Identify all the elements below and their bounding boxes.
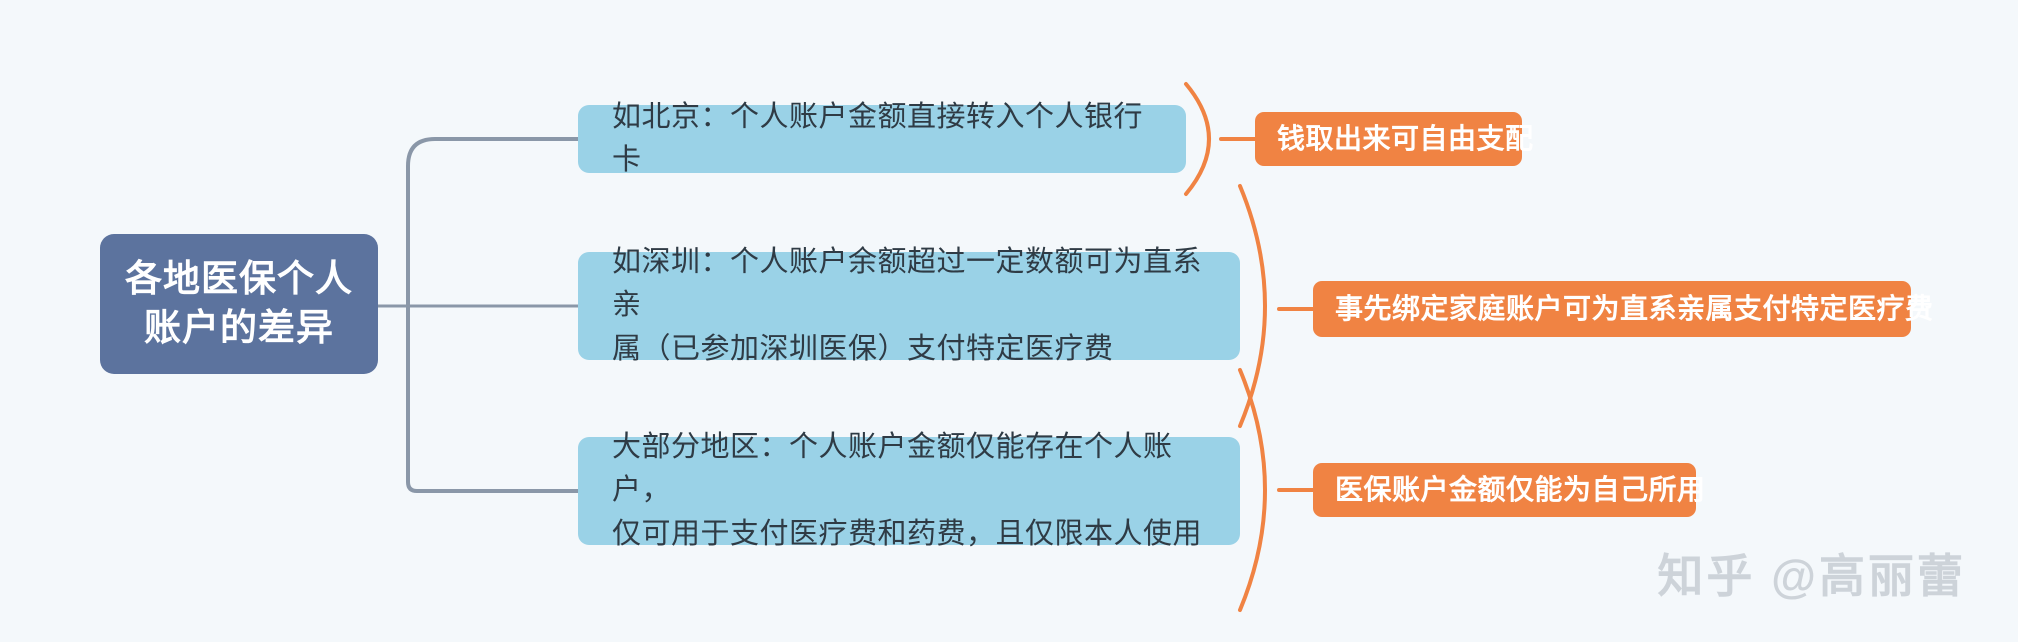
root-node[interactable]: 各地医保个人 账户的差异 [100, 234, 378, 374]
callout-node-label: 医保账户金额仅能为自己所用 [1313, 472, 1728, 508]
watermark-text: 知乎 @高丽蕾 [1657, 540, 1966, 606]
mindmap-canvas: 各地医保个人 账户的差异 如北京：个人账户金额直接转入个人银行卡 如深圳：个人账… [0, 0, 2018, 642]
callout-node-label: 事先绑定家庭账户可为直系亲属支付特定医疗费 [1313, 291, 1956, 327]
watermark: 知乎 @高丽蕾 [1657, 540, 1966, 606]
callout-node-label: 钱取出来可自由支配 [1255, 121, 1556, 157]
trunk-connector [408, 139, 578, 491]
root-node-label: 各地医保个人 账户的差异 [125, 255, 353, 353]
branch-node-label: 大部分地区：个人账户金额仅能存在个人账户， 仅可用于支付医疗费和药费，且仅限本人… [578, 426, 1240, 557]
branch-node-shenzhen[interactable]: 如深圳：个人账户余额超过一定数额可为直系亲 属（已参加深圳医保）支付特定医疗费 [578, 252, 1240, 360]
brace-connector-2 [1240, 186, 1313, 426]
branch-node-beijing[interactable]: 如北京：个人账户金额直接转入个人银行卡 [578, 105, 1186, 173]
branch-node-most-regions[interactable]: 大部分地区：个人账户金额仅能存在个人账户， 仅可用于支付医疗费和药费，且仅限本人… [578, 437, 1240, 545]
brace-connector-1 [1186, 84, 1255, 194]
callout-node-most-regions[interactable]: 医保账户金额仅能为自己所用 [1313, 463, 1696, 517]
brace-connector-3 [1240, 370, 1313, 610]
callout-node-beijing[interactable]: 钱取出来可自由支配 [1255, 112, 1522, 166]
callout-node-shenzhen[interactable]: 事先绑定家庭账户可为直系亲属支付特定医疗费 [1313, 281, 1911, 337]
branch-node-label: 如深圳：个人账户余额超过一定数额可为直系亲 属（已参加深圳医保）支付特定医疗费 [578, 241, 1240, 372]
branch-node-label: 如北京：个人账户金额直接转入个人银行卡 [578, 96, 1186, 183]
